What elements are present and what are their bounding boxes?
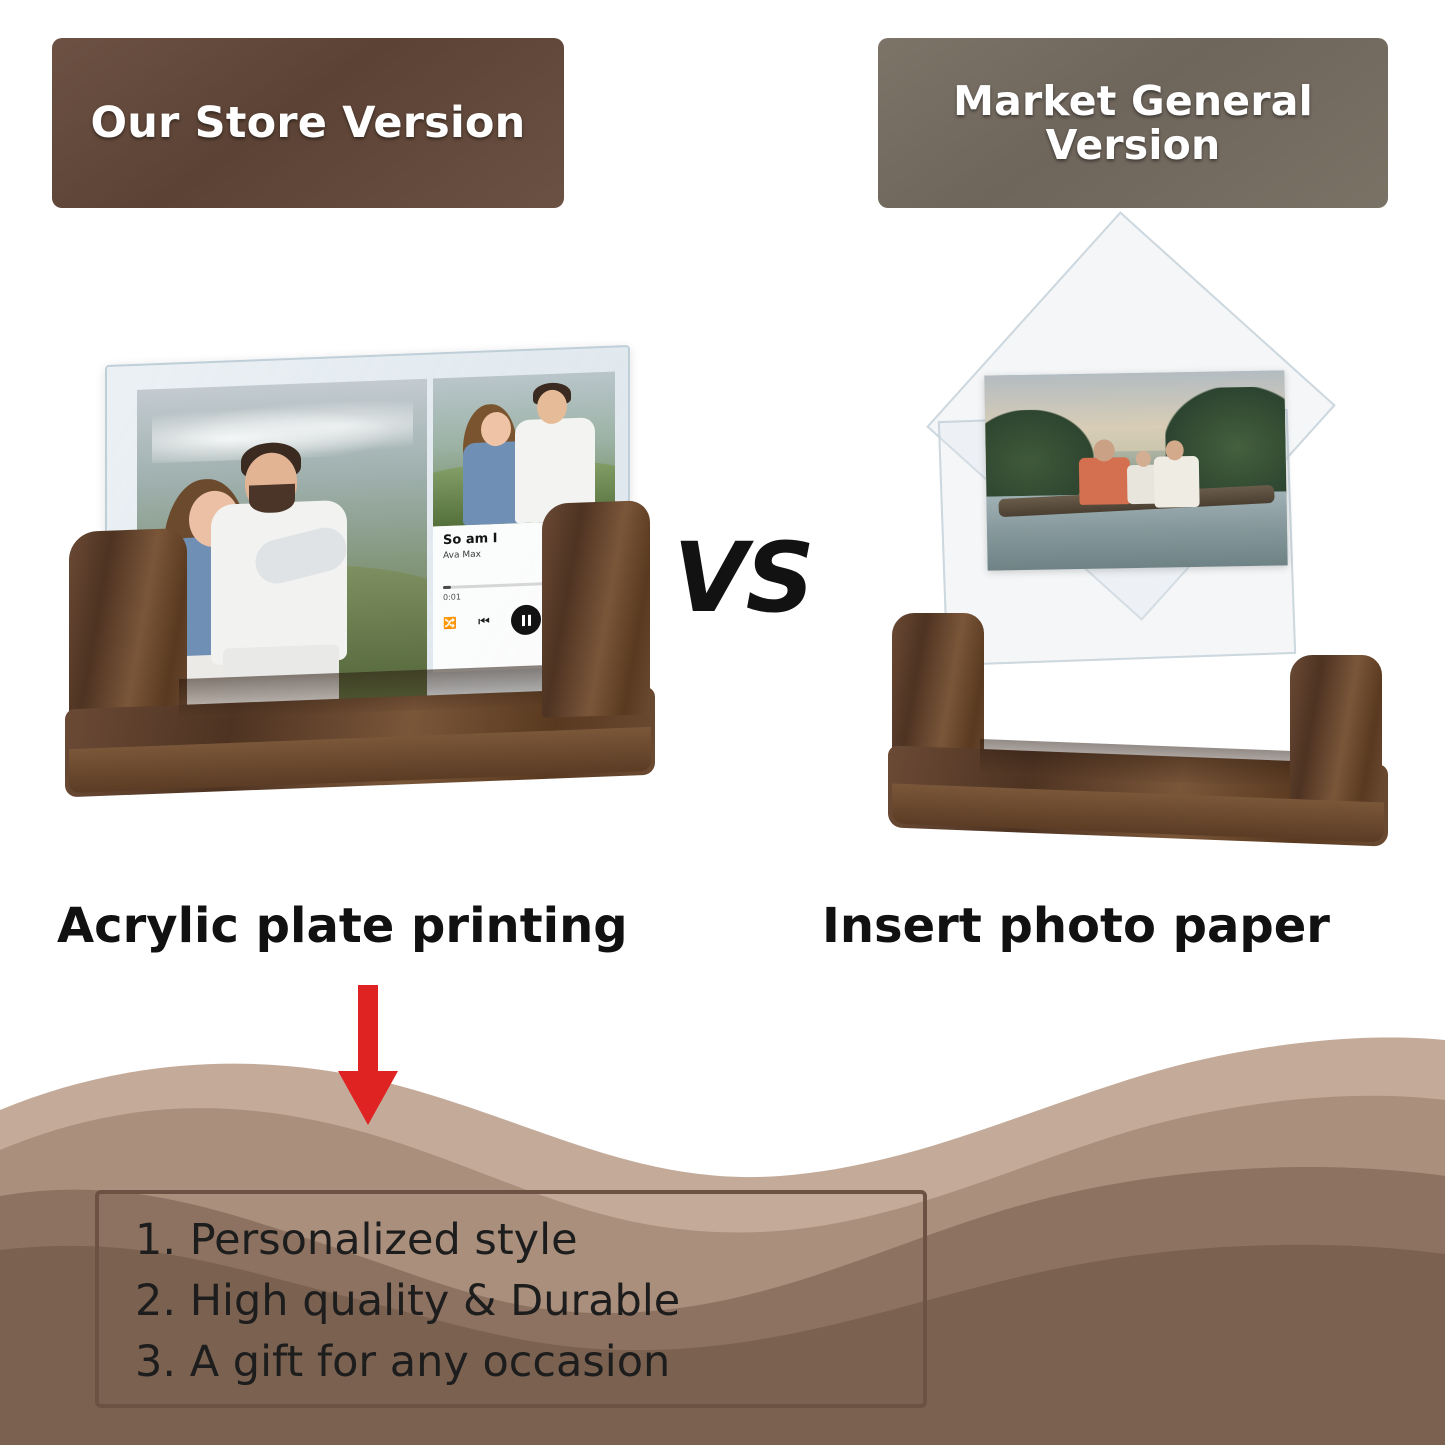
feature-item-2: 2. High quality & Durable <box>135 1271 897 1332</box>
banner-market-general-label: Market General Version <box>892 79 1374 168</box>
caption-acrylic-printing: Acrylic plate printing <box>57 898 628 954</box>
banner-market-general: Market General Version <box>878 38 1388 208</box>
wooden-stand-right <box>880 595 1400 835</box>
banner-our-store-label: Our Store Version <box>91 100 526 146</box>
arrow-shaft <box>358 985 378 1077</box>
photo-child-head <box>1136 451 1151 467</box>
feature-item-3: 3. A gift for any occasion <box>135 1332 897 1393</box>
comparison-infographic: Our Store Version Market General Version <box>0 0 1445 1445</box>
wooden-stand-left <box>55 502 675 797</box>
feature-item-1: 1. Personalized style <box>135 1210 897 1271</box>
vs-label: VS <box>668 522 818 634</box>
caption-photo-paper: Insert photo paper <box>822 898 1330 954</box>
banner-our-store: Our Store Version <box>52 38 564 208</box>
arrow-head <box>338 1071 398 1125</box>
product-market-general <box>880 265 1400 825</box>
product-our-store: So am I Ava Max ❤ 3:57 0:01 🔀 ⏮ ⏭ ↻ <box>55 355 675 795</box>
stand-right-right-arm <box>1290 655 1382 805</box>
photo-man-head <box>1093 440 1114 462</box>
photo-man-body <box>1079 457 1131 505</box>
features-box: 1. Personalized style 2. High quality & … <box>95 1190 927 1408</box>
photo-trees-left <box>985 409 1094 497</box>
stand-right-arm <box>542 500 650 718</box>
photo-woman-head <box>1165 440 1183 460</box>
down-arrow-icon <box>338 985 398 1125</box>
family-photo-paper <box>984 370 1287 570</box>
photo-woman-body <box>1154 456 1200 507</box>
